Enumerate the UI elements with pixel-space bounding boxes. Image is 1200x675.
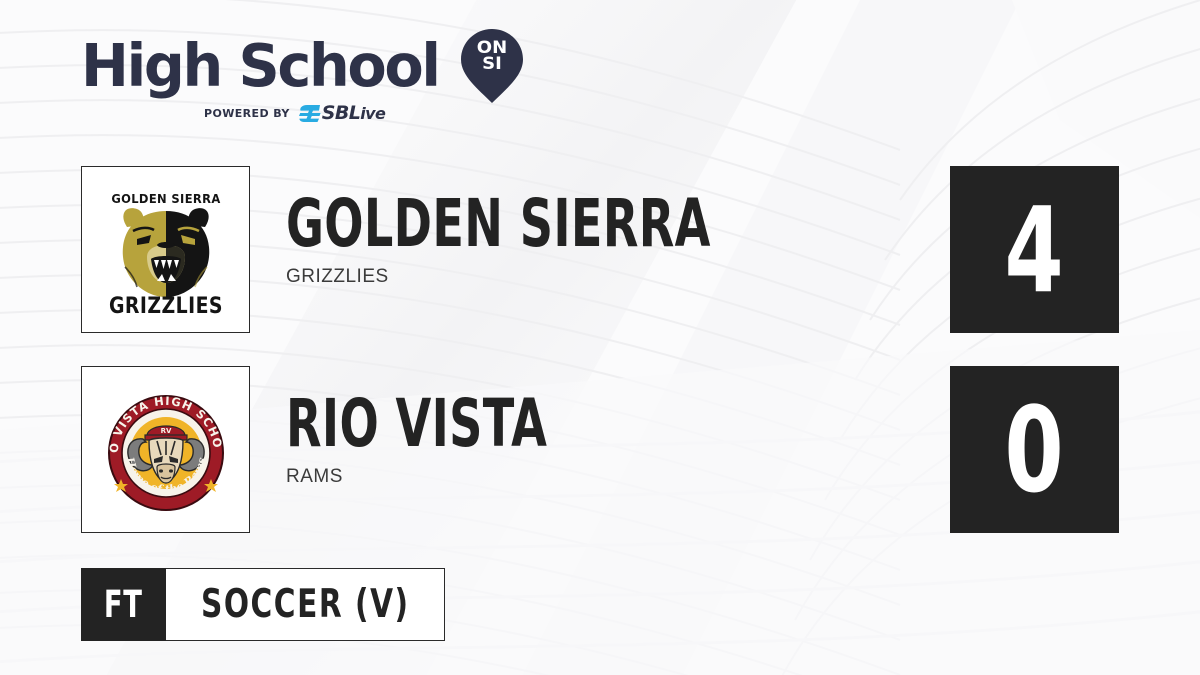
scoreboard-graphic: High School ON SI POWERED BY SBLive — [0, 0, 1200, 675]
sblive-s-mark-icon — [299, 104, 321, 123]
powered-by-row: POWERED BY SBLive — [81, 103, 511, 123]
team-text-block: GOLDEN SIERRA GRIZZLIES — [286, 192, 1046, 288]
team-name: GOLDEN SIERRA — [286, 192, 818, 256]
grizzly-bear-head-icon: GOLDEN SIERRA — [91, 175, 241, 325]
score-value: 4 — [1005, 191, 1064, 309]
rams-crest-icon: RIO VISTA HIGH SCHOOL RV — [91, 375, 241, 525]
status-bar: FT SOCCER (V) — [81, 568, 445, 641]
onsi-pin-label: ON SI — [461, 40, 523, 72]
brand-title-row: High School ON SI — [81, 33, 511, 99]
status-badge: FT — [81, 568, 166, 641]
team-logo-golden-sierra: GOLDEN SIERRA — [81, 166, 250, 333]
powered-by-label: POWERED BY — [204, 107, 290, 120]
score-value: 0 — [1005, 391, 1064, 509]
svg-text:GRIZZLIES: GRIZZLIES — [108, 292, 222, 318]
sport-label: SOCCER (V) — [201, 585, 410, 624]
sblive-logo: SBLive — [299, 104, 385, 123]
status-badge-label: FT — [104, 586, 143, 623]
team-text-block: RIO VISTA RAMS — [286, 392, 1046, 488]
sport-label-box: SOCCER (V) — [166, 568, 445, 641]
team-logo-rio-vista: RIO VISTA HIGH SCHOOL RV — [81, 366, 250, 533]
sblive-wordmark: SBLive — [322, 104, 385, 123]
svg-text:GOLDEN SIERRA: GOLDEN SIERRA — [111, 191, 221, 206]
sblive-lower: ive — [360, 104, 385, 123]
team-name: RIO VISTA — [286, 392, 818, 456]
score-box: 4 — [950, 166, 1119, 333]
sblive-upper: SBL — [322, 102, 360, 124]
score-box: 0 — [950, 366, 1119, 533]
brand-header: High School ON SI POWERED BY SBLive — [81, 33, 511, 133]
team-mascot: RAMS — [286, 466, 1046, 488]
brand-title: High School — [81, 35, 439, 97]
onsi-line-2: SI — [459, 56, 525, 72]
svg-text:RV: RV — [160, 427, 171, 435]
onsi-pin-icon: ON SI — [461, 29, 523, 103]
team-mascot: GRIZZLIES — [286, 266, 1046, 288]
